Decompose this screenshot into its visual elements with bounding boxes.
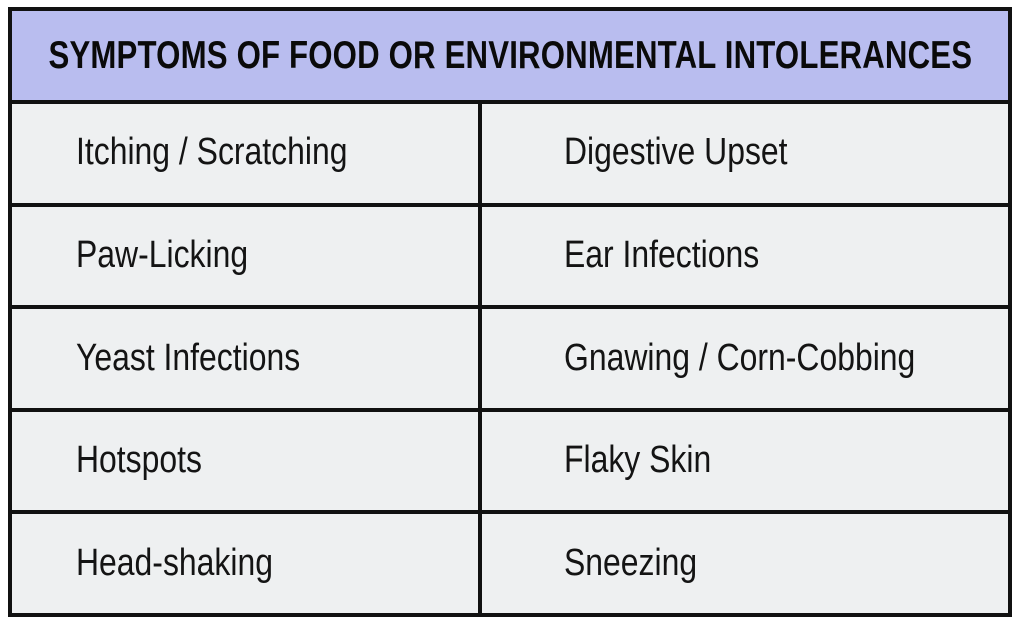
- table-cell-right: Ear Infections: [482, 207, 1008, 306]
- table-row: Hotspots Flaky Skin: [12, 412, 1008, 515]
- symptom-label: Flaky Skin: [564, 440, 711, 482]
- table-cell-left: Yeast Infections: [12, 309, 482, 408]
- table-cell-left: Itching / Scratching: [12, 104, 482, 203]
- symptom-label: Itching / Scratching: [76, 132, 347, 174]
- symptom-label: Paw-Licking: [76, 235, 248, 277]
- table-cell-left: Hotspots: [12, 412, 482, 511]
- table-row: Paw-Licking Ear Infections: [12, 207, 1008, 310]
- table-cell-left: Paw-Licking: [12, 207, 482, 306]
- table-row: Yeast Infections Gnawing / Corn-Cobbing: [12, 309, 1008, 412]
- table-cell-right: Flaky Skin: [482, 412, 1008, 511]
- symptom-label: Digestive Upset: [564, 132, 788, 174]
- symptom-label: Ear Infections: [564, 235, 759, 277]
- table-body: Itching / Scratching Digestive Upset Paw…: [12, 104, 1008, 613]
- table-cell-right: Digestive Upset: [482, 104, 1008, 203]
- table-header-bar: SYMPTOMS OF FOOD OR ENVIRONMENTAL INTOLE…: [12, 11, 1008, 104]
- symptom-label: Hotspots: [76, 440, 202, 482]
- table-cell-left: Head-shaking: [12, 514, 482, 613]
- table-cell-right: Gnawing / Corn-Cobbing: [482, 309, 1008, 408]
- table-row: Head-shaking Sneezing: [12, 514, 1008, 613]
- symptom-label: Head-shaking: [76, 543, 273, 585]
- symptom-label: Yeast Infections: [76, 338, 300, 380]
- page-canvas: SYMPTOMS OF FOOD OR ENVIRONMENTAL INTOLE…: [0, 0, 1020, 627]
- symptoms-table: SYMPTOMS OF FOOD OR ENVIRONMENTAL INTOLE…: [8, 7, 1012, 617]
- table-cell-right: Sneezing: [482, 514, 1008, 613]
- table-row: Itching / Scratching Digestive Upset: [12, 104, 1008, 207]
- symptom-label: Sneezing: [564, 543, 697, 585]
- symptom-label: Gnawing / Corn-Cobbing: [564, 338, 915, 380]
- table-title: SYMPTOMS OF FOOD OR ENVIRONMENTAL INTOLE…: [48, 36, 972, 75]
